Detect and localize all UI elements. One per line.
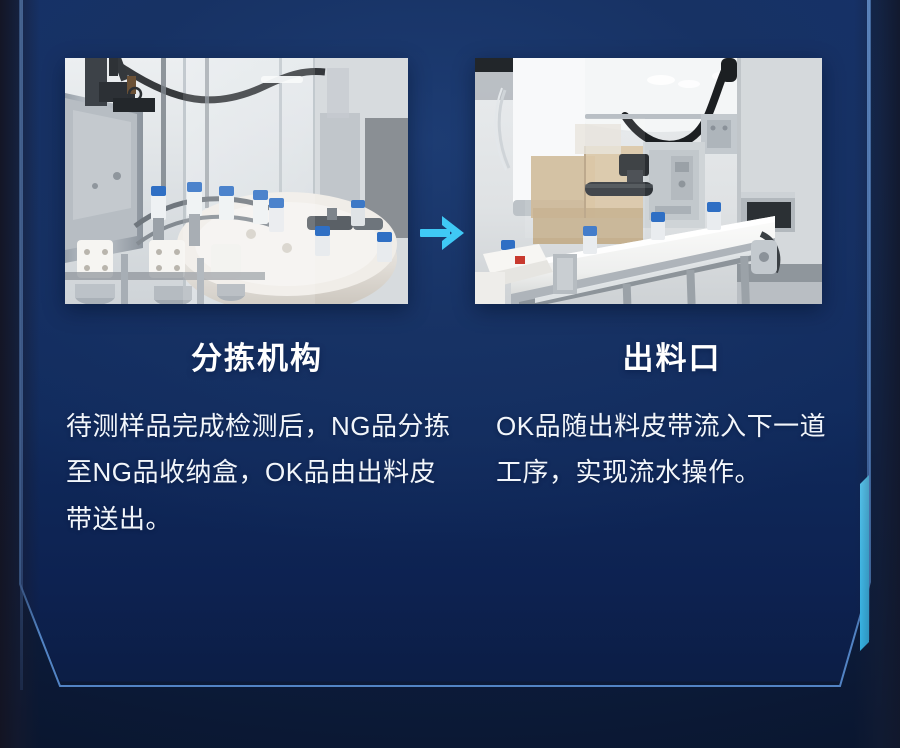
sorting-mechanism-photo: [65, 58, 408, 304]
discharge-port-photo: [475, 58, 822, 304]
arrow-right-icon: [418, 208, 468, 258]
column-sorting-mechanism: 分拣机构 待测样品完成检测后，NG品分拣至NG品收纳盒，OK品由出料皮带送出。: [62, 340, 452, 542]
column-body-discharge-port: OK品随出料皮带流入下一道工序，实现流水操作。: [492, 403, 852, 496]
column-body-sorting-mechanism: 待测样品完成检测后，NG品分拣至NG品收纳盒，OK品由出料皮带送出。: [62, 403, 452, 542]
column-title-discharge-port: 出料口: [492, 340, 852, 377]
photo-row: [0, 58, 900, 304]
cyan-accent-bar: [860, 474, 869, 652]
column-title-sorting-mechanism: 分拣机构: [62, 340, 452, 377]
page-stage: 分拣机构 待测样品完成检测后，NG品分拣至NG品收纳盒，OK品由出料皮带送出。 …: [0, 0, 900, 748]
column-discharge-port: 出料口 OK品随出料皮带流入下一道工序，实现流水操作。: [492, 340, 852, 496]
